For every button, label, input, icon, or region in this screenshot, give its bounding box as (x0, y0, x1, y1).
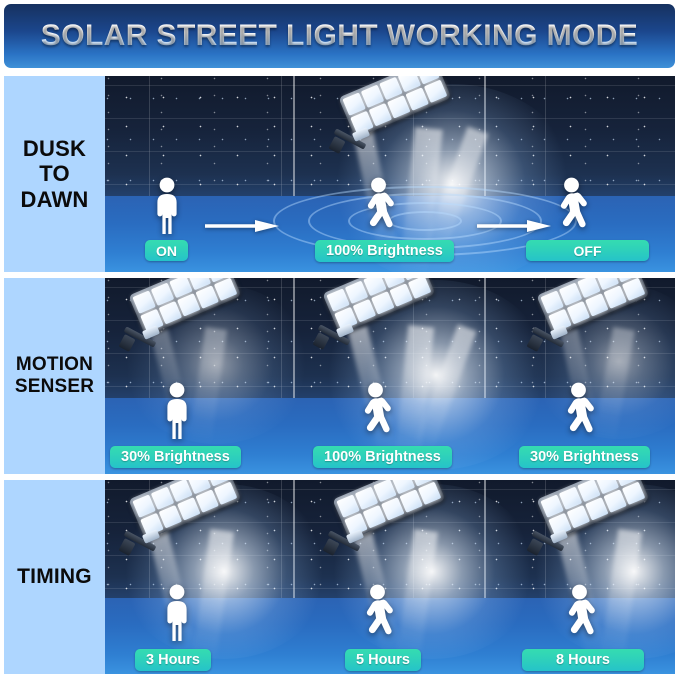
row-label-cell-timing: TIMING (4, 480, 105, 674)
row-label-timing: TIMING (17, 565, 92, 589)
page-title: SOLAR STREET LIGHT WORKING MODE (41, 19, 638, 53)
status-badge-off: OFF (526, 240, 649, 261)
panel-divider (293, 76, 295, 196)
lamp-led-array (540, 278, 645, 332)
walking-person-icon (359, 584, 393, 642)
walking-person-icon (360, 177, 394, 235)
status-badge-brightness: 100% Brightness (315, 240, 454, 262)
lamp-head (322, 278, 435, 334)
panel-divider (484, 76, 486, 196)
scene-timing: 3 Hours 5 Hours 8 Hours (105, 480, 675, 674)
street-lamp-icon (127, 496, 243, 570)
infographic-page: SOLAR STREET LIGHT WORKING MODE DUSK TO … (0, 0, 679, 678)
lamp-led-array (326, 278, 431, 330)
row-label-cell-motion-senser: MOTION SENSER (4, 278, 105, 474)
status-badge-timing: 8 Hours (522, 649, 644, 671)
walking-person-icon (560, 382, 594, 440)
mode-row-motion-senser: MOTION SENSER (4, 278, 675, 474)
street-lamp-icon (331, 496, 447, 570)
panel-divider (484, 278, 486, 398)
walking-person-icon (553, 177, 587, 235)
standing-person-icon (150, 177, 184, 235)
street-lamp-icon (127, 292, 243, 366)
walking-person-icon (357, 382, 391, 440)
standing-person-icon (160, 584, 194, 642)
panel-divider (293, 480, 295, 598)
mode-row-timing: TIMING (4, 480, 675, 674)
street-lamp-icon (337, 94, 453, 168)
panel-divider (293, 278, 295, 398)
street-lamp-icon (321, 290, 437, 364)
status-badge-on: ON (145, 240, 188, 261)
panel-divider (484, 480, 486, 598)
status-badge-brightness: 100% Brightness (313, 446, 452, 468)
lamp-led-array (132, 278, 237, 332)
mode-row-dusk-to-dawn: DUSK TO DAWN (4, 76, 675, 272)
flow-arrow-icon (205, 219, 279, 233)
street-lamp-icon (535, 496, 651, 570)
scene-motion-senser: 30% Brightness 100% Brightness 30% Brigh… (105, 278, 675, 474)
status-badge-timing: 3 Hours (135, 649, 211, 671)
row-label-cell-dusk-to-dawn: DUSK TO DAWN (4, 76, 105, 272)
status-badge-timing: 5 Hours (345, 649, 421, 671)
standing-person-icon (160, 382, 194, 440)
row-label-motion-senser: MOTION SENSER (15, 354, 94, 397)
walking-person-icon (561, 584, 595, 642)
scene-dusk-to-dawn: ON 100% Brightness OFF (105, 76, 675, 272)
flow-arrow-icon (477, 219, 551, 233)
street-lamp-icon (535, 292, 651, 366)
status-badge-brightness: 30% Brightness (519, 446, 650, 468)
row-label-dusk-to-dawn: DUSK TO DAWN (20, 136, 88, 211)
status-badge-brightness: 30% Brightness (110, 446, 241, 468)
title-banner: SOLAR STREET LIGHT WORKING MODE (4, 4, 675, 68)
